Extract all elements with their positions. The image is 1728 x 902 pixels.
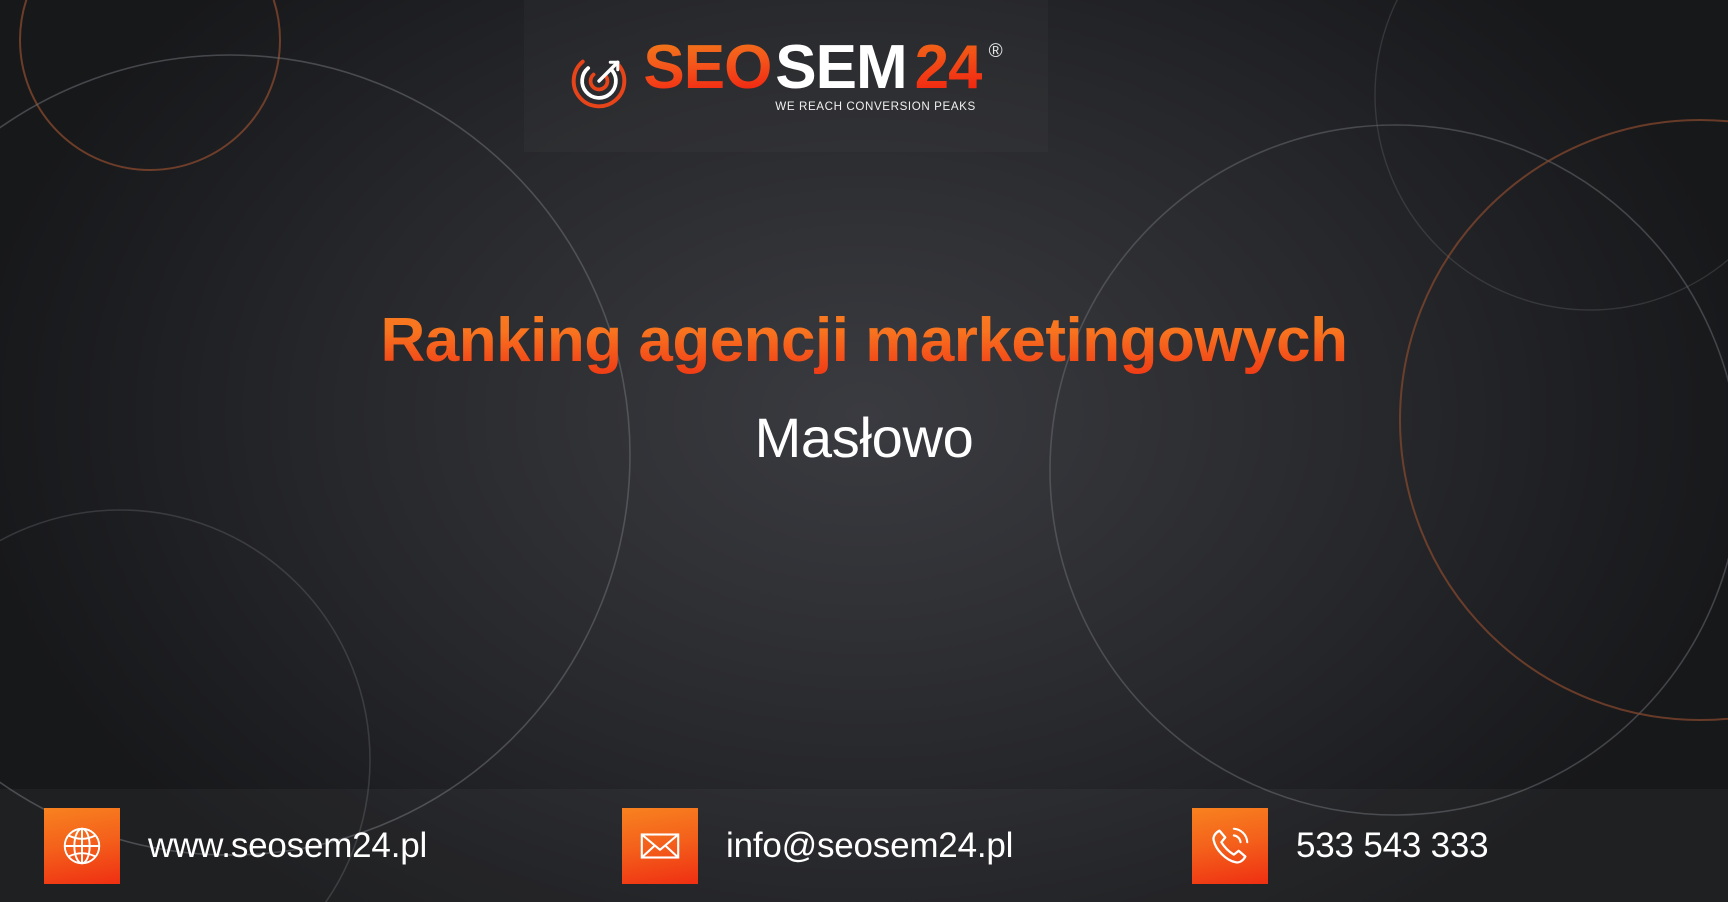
brand-logo-block[interactable]: SEO SEM 24 ® WE REACH CONVERSION PEAKS — [524, 0, 1048, 152]
contact-website[interactable]: www.seosem24.pl — [44, 808, 427, 884]
page-title: Ranking agencji marketingowych — [0, 305, 1728, 376]
envelope-icon — [622, 808, 698, 884]
email-label: info@seosem24.pl — [726, 826, 1013, 866]
website-label: www.seosem24.pl — [148, 826, 427, 866]
phone-label: 533 543 333 — [1296, 826, 1488, 866]
contact-phone[interactable]: 533 543 333 — [1192, 808, 1488, 884]
contact-email[interactable]: info@seosem24.pl — [622, 808, 1013, 884]
phone-icon — [1192, 808, 1268, 884]
logo-text-sem: SEM — [775, 39, 906, 98]
logo-text-seo: SEO — [643, 39, 771, 98]
logo-text-24: 24 — [915, 39, 982, 98]
contact-footer-bar: www.seosem24.pl info@seosem24.pl 533 — [0, 789, 1728, 902]
target-arrow-icon — [569, 51, 629, 111]
registered-mark: ® — [989, 42, 1003, 61]
slide-canvas: SEO SEM 24 ® WE REACH CONVERSION PEAKS R… — [0, 0, 1728, 902]
page-subtitle: Masłowo — [0, 405, 1728, 470]
globe-icon — [44, 808, 120, 884]
logo-tagline: WE REACH CONVERSION PEAKS — [775, 100, 1002, 113]
